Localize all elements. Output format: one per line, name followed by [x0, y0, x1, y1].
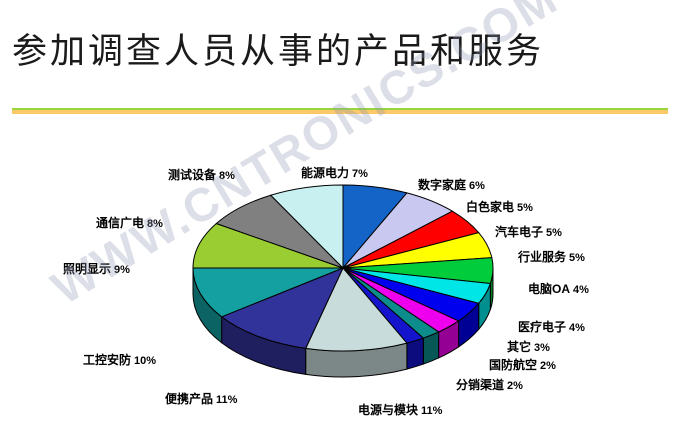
slice-label-percent: 8%: [219, 170, 235, 182]
slice-label-percent: 2%: [507, 380, 523, 392]
slice-label-text: 便携产品: [165, 392, 213, 406]
label-hangyefuwu: 行业服务5%: [518, 248, 585, 265]
slice-label-percent: 4%: [569, 322, 585, 334]
label-bianxiechanpin: 便携产品11%: [165, 390, 237, 407]
slice-label-text: 照明显示: [63, 262, 111, 276]
slice-label-percent: 5%: [569, 252, 585, 264]
slice-label-text: 行业服务: [518, 250, 566, 264]
slice-label-percent: 10%: [134, 355, 156, 367]
label-gongkonganfang: 工控安防10%: [83, 351, 156, 368]
label-baisejiadian: 白色家电5%: [466, 198, 533, 215]
slice-label-percent: 11%: [216, 394, 237, 406]
slice-label-percent: 6%: [469, 180, 485, 192]
slice-label-percent: 7%: [352, 168, 368, 180]
slice-label-text: 分销渠道: [456, 378, 504, 392]
slice-label-percent: 9%: [114, 264, 130, 276]
label-dianyuanyumokuai: 电源与模块11%: [358, 401, 442, 418]
slice-label-text: 能源电力: [301, 166, 349, 180]
slice-label-text: 白色家电: [466, 200, 514, 214]
pie-top-faces: [193, 185, 493, 351]
label-shuzijiating: 数字家庭6%: [418, 176, 485, 193]
slice-label-text: 医疗电子: [518, 320, 566, 334]
slice-label-text: 测试设备: [168, 168, 216, 182]
label-diannaooa: 电脑OA4%: [528, 280, 589, 297]
slice-label-percent: 4%: [573, 284, 589, 296]
slice-label-percent: 8%: [147, 218, 163, 230]
slice-label-percent: 5%: [517, 202, 533, 214]
slice-label-percent: 5%: [546, 227, 562, 239]
pie-chart: 测试设备8%能源电力7%数字家庭6%白色家电5%汽车电子5%行业服务5%电脑OA…: [0, 120, 680, 441]
slice-label-text: 汽车电子: [495, 225, 543, 239]
divider-line-gold: [12, 110, 668, 114]
slice-label-text: 其它: [507, 340, 531, 354]
title-divider: [12, 108, 668, 114]
label-guofanghangkong: 国防航空2%: [489, 356, 556, 373]
slice-label-percent: 3%: [534, 342, 550, 354]
slide-page: 参加调查人员从事的产品和服务 测试设备8%能源电力7%数字家庭6%白色家电5%汽…: [0, 0, 680, 441]
slice-label-text: 国防航空: [489, 358, 537, 372]
slice-label-text: 电脑OA: [528, 282, 570, 296]
page-title: 参加调查人员从事的产品和服务: [12, 30, 668, 74]
label-fenxiaoqudao: 分销渠道2%: [456, 376, 523, 393]
label-zhaomingxianshi: 照明显示9%: [63, 260, 130, 277]
slice-label-text: 电源与模块: [358, 403, 418, 417]
slice-label-text: 通信广电: [96, 216, 144, 230]
label-ceshishebei: 测试设备8%: [168, 166, 235, 183]
slice-label-text: 数字家庭: [418, 178, 466, 192]
label-qita: 其它3%: [507, 338, 550, 355]
label-yiliaodianzi: 医疗电子4%: [518, 318, 585, 335]
label-qichedianzi: 汽车电子5%: [495, 223, 562, 240]
slice-label-percent: 2%: [540, 360, 556, 372]
label-tongxinguangdian: 通信广电8%: [96, 214, 163, 231]
label-nengyuandianli: 能源电力7%: [301, 164, 368, 181]
slice-label-text: 工控安防: [83, 353, 131, 367]
slice-label-percent: 11%: [421, 405, 442, 417]
